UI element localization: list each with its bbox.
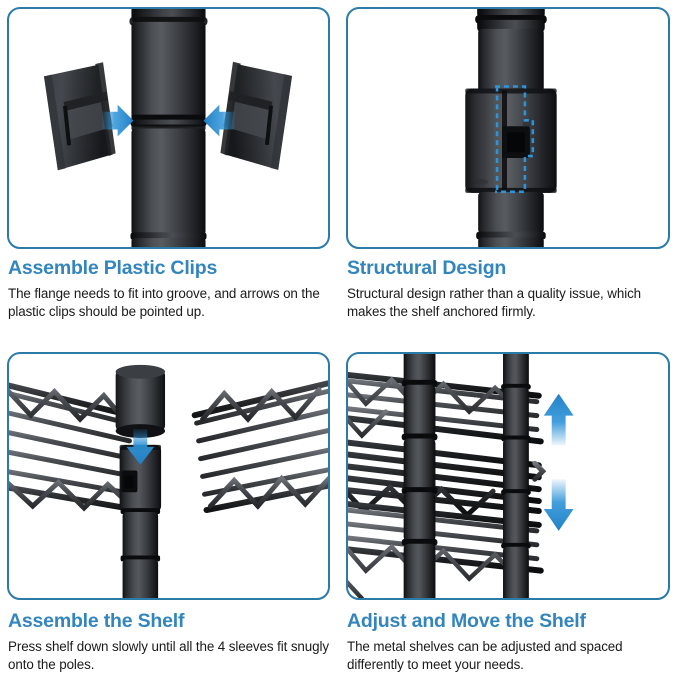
pole-top xyxy=(475,9,547,93)
step-assemble-the-shelf: Assemble the Shelf Press shelf down slow… xyxy=(0,345,339,690)
shelf-sleeve-collar xyxy=(116,365,165,438)
pole-lower-segment xyxy=(130,129,206,249)
arrow-move-shelf-down xyxy=(544,479,574,531)
caption-assemble-the-shelf: Assemble the Shelf Press shelf down slow… xyxy=(8,611,330,674)
step-body: The flange needs to fit into groove, and… xyxy=(8,285,330,321)
wire-shelf-right-wing xyxy=(195,382,328,510)
shelf-pressed-onto-sleeve-illustration xyxy=(9,354,328,599)
pole-upper-segment xyxy=(129,9,207,121)
pole-bottom xyxy=(476,192,546,249)
caption-assemble-plastic-clips: Assemble Plastic Clips The flange needs … xyxy=(8,258,330,321)
step-body: Structural design rather than a quality … xyxy=(347,285,670,321)
step-title: Assemble Plastic Clips xyxy=(8,258,330,279)
step-adjust-and-move-the-shelf: Adjust and Move the Shelf The metal shel… xyxy=(339,345,679,690)
pole-back-right xyxy=(501,354,531,600)
pole-with-clip xyxy=(120,445,161,599)
figure-assemble-the-shelf xyxy=(7,352,330,600)
figure-assemble-plastic-clips xyxy=(7,7,330,249)
step-title: Assemble the Shelf xyxy=(8,611,330,632)
figure-structural-design xyxy=(346,7,670,249)
step-title: Adjust and Move the Shelf xyxy=(347,611,670,632)
adjustable-shelf-spacing-illustration xyxy=(348,354,668,600)
arrow-move-shelf-up xyxy=(544,394,574,446)
figure-adjust-and-move-the-shelf xyxy=(346,352,670,600)
step-assemble-plastic-clips: Assemble Plastic Clips The flange needs … xyxy=(0,0,339,345)
pole-front-left xyxy=(402,354,438,600)
plastic-clips-onto-pole-illustration xyxy=(9,9,328,248)
steps-grid: Assemble Plastic Clips The flange needs … xyxy=(0,0,679,690)
caption-structural-design: Structural Design Structural design rath… xyxy=(347,258,670,321)
instruction-sheet: Assemble Plastic Clips The flange needs … xyxy=(0,0,679,690)
caption-adjust-and-move-the-shelf: Adjust and Move the Shelf The metal shel… xyxy=(347,611,670,674)
step-body: The metal shelves can be adjusted and sp… xyxy=(347,638,670,674)
step-title: Structural Design xyxy=(347,258,670,279)
step-body: Press shelf down slowly until all the 4 … xyxy=(8,638,330,674)
pole-joint-structural-highlight-illustration xyxy=(348,9,668,249)
pole-groove xyxy=(130,115,206,131)
step-structural-design: Structural Design Structural design rath… xyxy=(339,0,679,345)
